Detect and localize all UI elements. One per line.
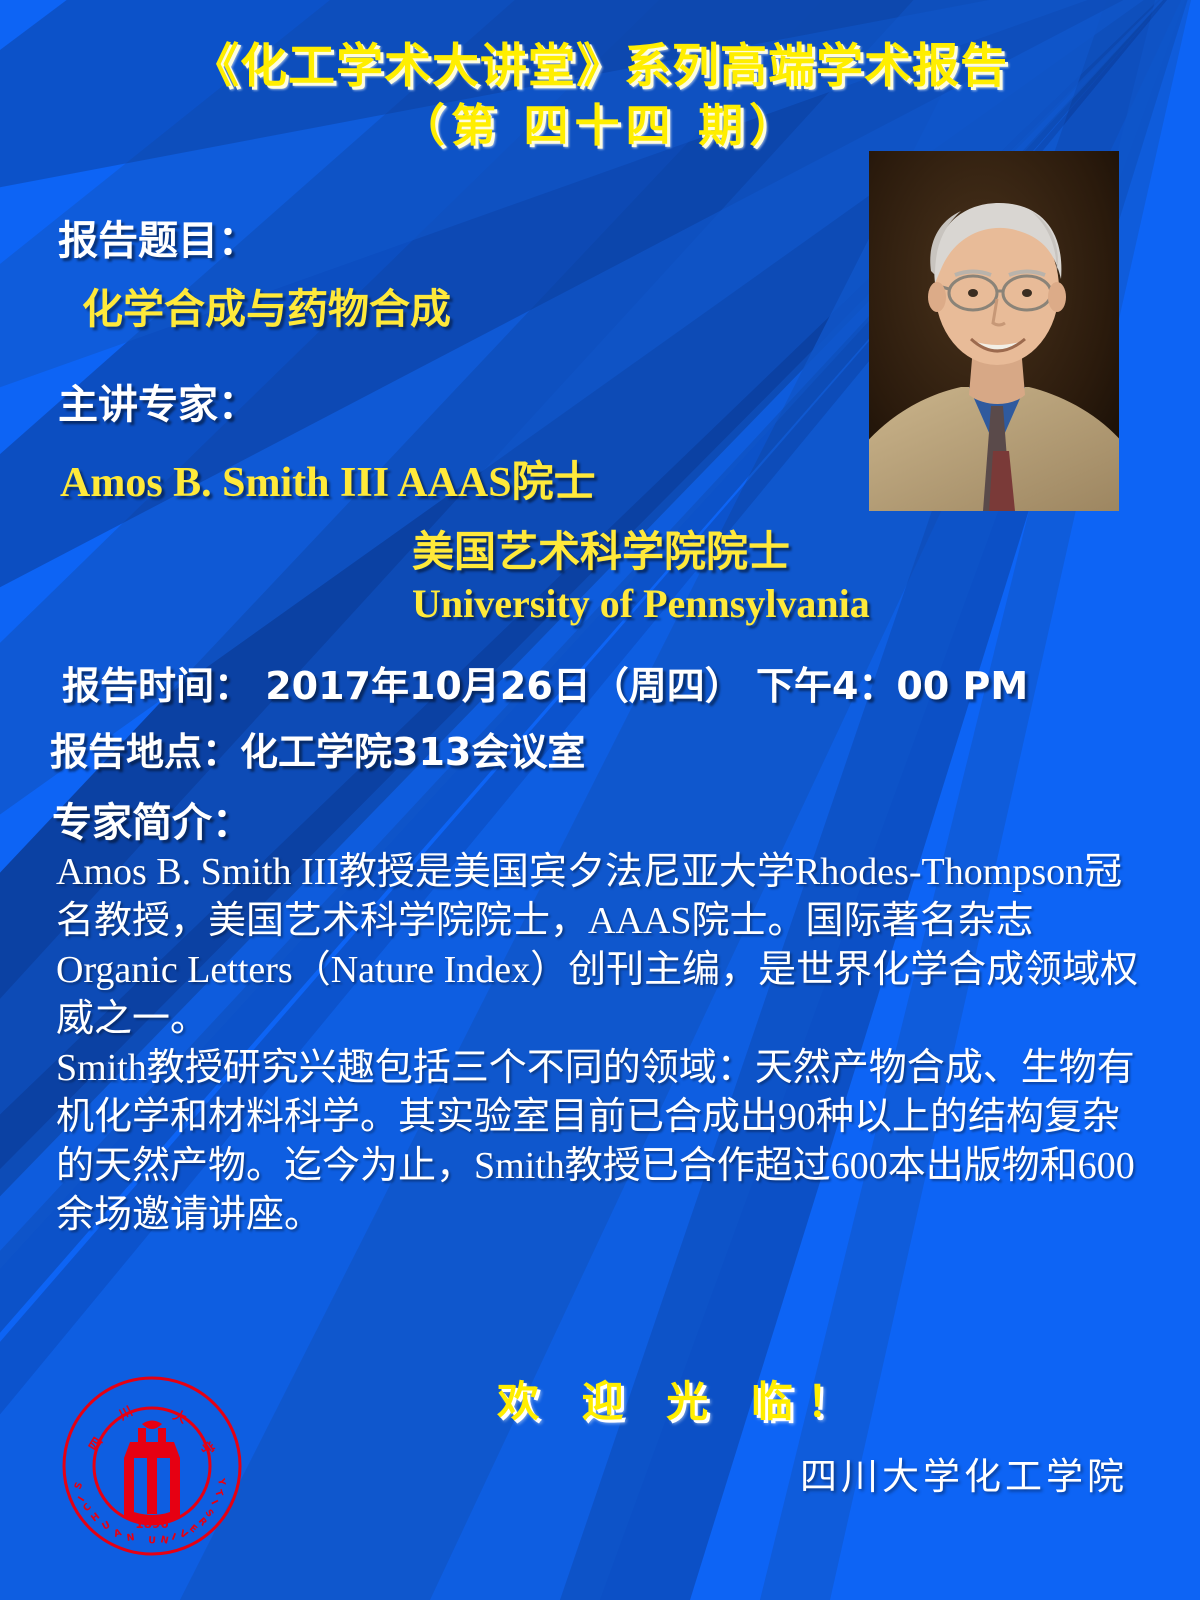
svg-text:U: U [100, 1519, 112, 1532]
seal-year: 1896 [135, 1517, 168, 1531]
svg-text:N: N [126, 1532, 135, 1544]
lecture-poster: 《化工学术大讲堂》系列高端学术报告 （第 四十四 期） 报告题目： 化学合成与药… [0, 0, 1200, 1600]
bio-label: 专家简介： [52, 790, 252, 848]
poster-title: 《化工学术大讲堂》系列高端学术报告 （第 四十四 期） [0, 38, 1200, 156]
speaker-photo [869, 151, 1119, 511]
svg-text:I: I [170, 1532, 177, 1544]
lecture-location: 报告地点：化工学院313会议室 [50, 721, 585, 776]
title-line-2: （第 四十四 期） [0, 96, 1200, 156]
topic-value: 化学合成与药物合成 [82, 275, 451, 335]
bio-text: Amos B. Smith III教授是美国宾夕法尼亚大学Rhodes-Thom… [56, 848, 1150, 1240]
svg-text:T: T [212, 1489, 225, 1499]
welcome-text: 欢 迎 光 临！ [337, 1377, 863, 1426]
svg-text:学: 学 [197, 1439, 218, 1459]
organization-signature: 四川大学化工学院 [800, 1446, 1128, 1500]
speaker-fellowship: 美国艺术科学院院士 [412, 518, 790, 579]
speaker-name: Amos B. Smith III AAAS院士 [60, 448, 596, 509]
svg-text:C: C [81, 1501, 94, 1514]
svg-text:I: I [208, 1498, 219, 1506]
speaker-affiliation: University of Pennsylvania [412, 580, 870, 627]
topic-label: 报告题目： [58, 208, 258, 266]
svg-text:N: N [159, 1534, 169, 1547]
sichuan-university-seal-icon: 四 川 大 学 S I C H U A N U N I V E R S [58, 1372, 246, 1560]
svg-text:四: 四 [87, 1435, 107, 1454]
svg-text:川: 川 [116, 1404, 135, 1424]
svg-text:大: 大 [170, 1407, 188, 1427]
title-line-1: 《化工学术大讲堂》系列高端学术报告 [0, 38, 1200, 96]
speaker-label: 主讲专家： [58, 372, 258, 430]
lecture-time: 报告时间： 2017年10月26日（周四） 下午4：00 PM [62, 655, 1028, 710]
svg-text:Y: Y [215, 1477, 227, 1487]
svg-text:U: U [148, 1535, 156, 1547]
svg-text:A: A [113, 1527, 124, 1540]
svg-text:S: S [73, 1481, 86, 1492]
